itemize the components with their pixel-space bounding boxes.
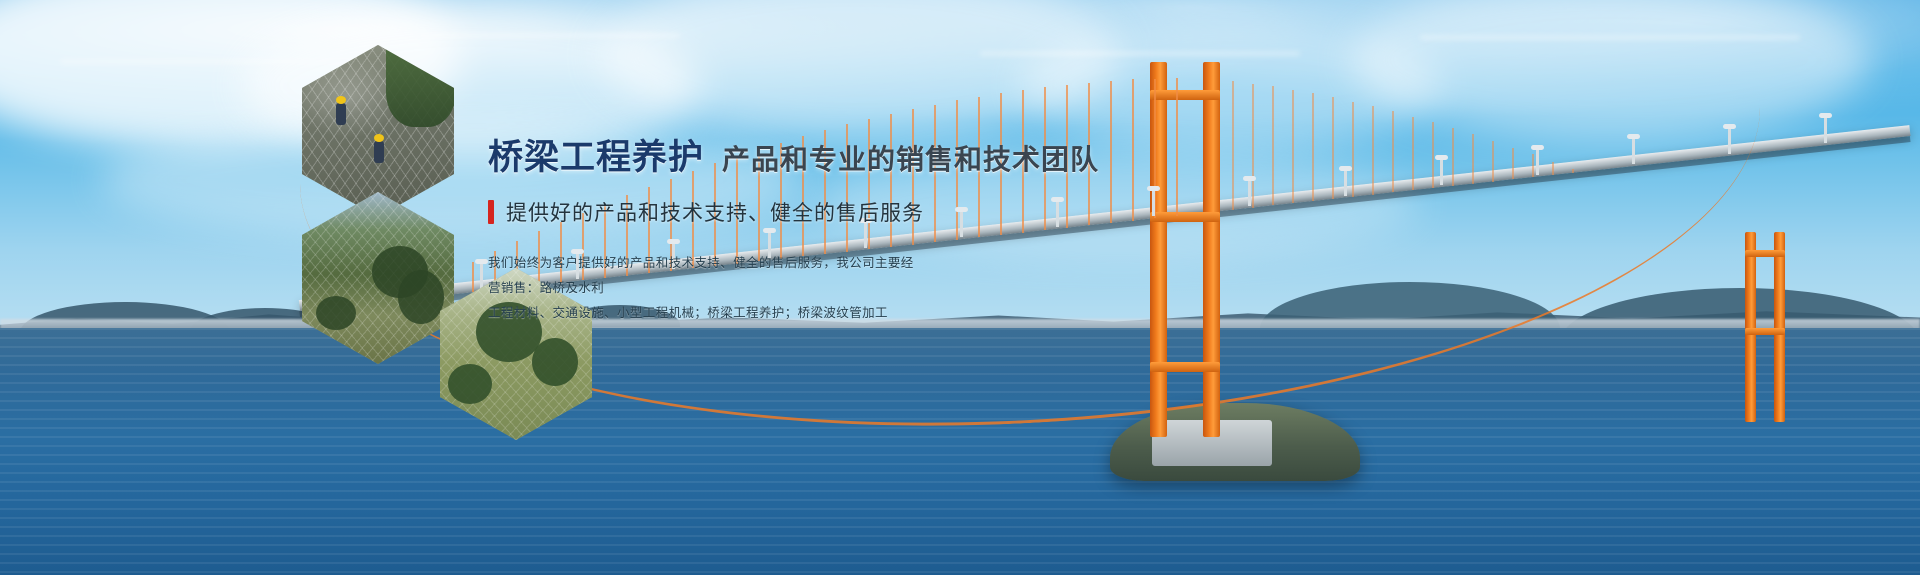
- suspender-cable: [1532, 154, 1534, 177]
- suspender-cable: [472, 262, 474, 293]
- vegetation-shape: [448, 364, 492, 404]
- suspender-cable: [1512, 148, 1514, 180]
- deck-lamp-post: [480, 263, 483, 289]
- deck-lamp-post: [1248, 180, 1251, 206]
- suspender-cable: [1412, 117, 1414, 190]
- deck-lamp-post: [1440, 159, 1443, 185]
- suspender-cable: [1292, 90, 1294, 204]
- suspender-cable: [1432, 122, 1434, 188]
- description-paragraph: 我们始终为客户提供好的产品和技术支持、健全的售后服务，我公司主要经营销售：路桥及…: [488, 251, 918, 326]
- suspender-cable: [1472, 134, 1474, 183]
- deck-lamp-post: [1632, 138, 1635, 164]
- suspender-cable: [1552, 162, 1554, 175]
- suspender-cable: [1332, 97, 1334, 199]
- suspender-cable: [1132, 79, 1134, 220]
- headline-secondary: 产品和专业的销售和技术团队: [722, 146, 1099, 174]
- bridge-tower-far: [1745, 232, 1785, 422]
- hero-banner: 桥梁工程养护 产品和专业的销售和技术团队 提供好的产品和技术支持、健全的售后服务…: [0, 0, 1920, 575]
- banner-copy: 桥梁工程养护 产品和专业的销售和技术团队 提供好的产品和技术支持、健全的售后服务…: [488, 140, 1048, 326]
- suspender-cable: [1392, 111, 1394, 192]
- suspender-cable: [1572, 169, 1574, 173]
- worker-figure: [336, 103, 346, 125]
- deck-lamp-post: [1344, 170, 1347, 196]
- deck-lamp-post: [1152, 190, 1155, 216]
- deck-lamp-post: [1824, 117, 1827, 143]
- headline-row: 桥梁工程养护 产品和专业的销售和技术团队: [488, 140, 1048, 175]
- vegetation-shape: [316, 296, 356, 330]
- suspender-cable: [1232, 81, 1234, 210]
- suspender-cable: [1272, 86, 1274, 205]
- vegetation-shape: [398, 270, 444, 324]
- subtitle-row: 提供好的产品和技术支持、健全的售后服务: [488, 197, 1048, 227]
- deck-lamp-post: [1056, 201, 1059, 227]
- deck-lamp-post: [1728, 128, 1731, 154]
- deck-lamp-post: [1536, 149, 1539, 175]
- suspender-cable: [1452, 128, 1454, 186]
- bridge-tower-near: [1150, 62, 1220, 437]
- suspender-cable: [1492, 141, 1494, 182]
- suspender-cable: [1312, 93, 1314, 201]
- suspender-cable: [1352, 102, 1354, 197]
- headline-primary: 桥梁工程养护: [488, 140, 704, 175]
- suspender-cable: [1110, 81, 1112, 223]
- accent-bar: [488, 200, 494, 224]
- description-line-2: 工程材料、交通设施、小型工程机械；桥梁工程养护；桥梁波纹管加工: [488, 301, 918, 326]
- suspender-cable: [1252, 84, 1254, 208]
- suspender-cable: [1176, 78, 1178, 216]
- subtitle-text: 提供好的产品和技术支持、健全的售后服务: [506, 197, 924, 227]
- vegetation-shape: [532, 338, 578, 386]
- suspender-cable: [1372, 106, 1374, 194]
- description-line-1: 我们始终为客户提供好的产品和技术支持、健全的售后服务，我公司主要经营销售：路桥及…: [488, 251, 918, 301]
- worker-figure: [374, 141, 384, 163]
